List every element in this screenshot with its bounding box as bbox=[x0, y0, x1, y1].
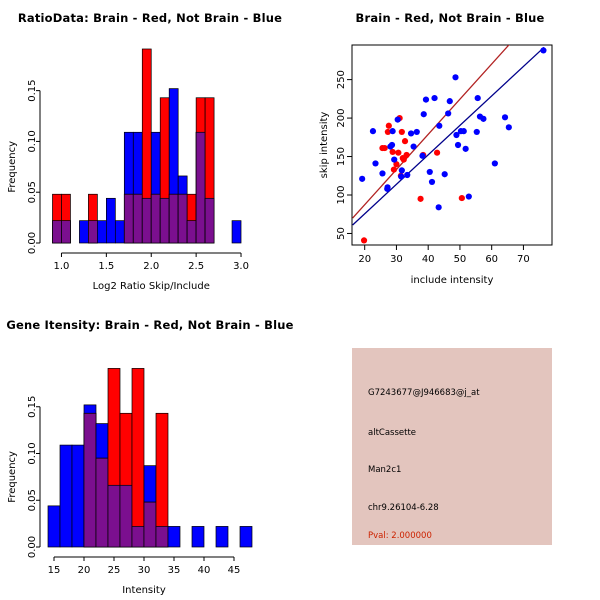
svg-text:30: 30 bbox=[138, 565, 151, 576]
svg-text:Frequency: Frequency bbox=[7, 451, 18, 503]
gene-intensity-svg: 0.000.050.100.15Frequency15202530354045I… bbox=[0, 300, 300, 600]
svg-text:35: 35 bbox=[168, 565, 181, 576]
svg-text:0.10: 0.10 bbox=[27, 442, 38, 464]
svg-text:0.05: 0.05 bbox=[27, 181, 38, 203]
svg-text:2.0: 2.0 bbox=[143, 261, 159, 272]
info-line-4: chr9.26104-6.28 bbox=[368, 503, 439, 513]
svg-text:45: 45 bbox=[228, 565, 241, 576]
svg-text:Intensity: Intensity bbox=[122, 585, 166, 596]
svg-text:25: 25 bbox=[108, 565, 121, 576]
svg-text:30: 30 bbox=[390, 254, 403, 265]
gene-intensity-panel: Gene Itensity: Brain - Red, Not Brain - … bbox=[0, 300, 300, 600]
svg-text:40: 40 bbox=[198, 565, 211, 576]
svg-text:0.05: 0.05 bbox=[27, 489, 38, 511]
svg-text:70: 70 bbox=[517, 254, 530, 265]
intensity-scatter-panel: Brain - Red, Not Brain - Blue 5010015020… bbox=[300, 0, 600, 300]
svg-text:150: 150 bbox=[336, 147, 347, 166]
svg-text:1.0: 1.0 bbox=[54, 261, 70, 272]
svg-text:250: 250 bbox=[336, 70, 347, 89]
gene-info-panel: G7243677@J946683@j_ataltCassetteMan2c1ch… bbox=[352, 348, 552, 545]
svg-text:50: 50 bbox=[454, 254, 467, 265]
ratio-histogram-svg: 0.000.050.100.15Frequency1.01.52.02.53.0… bbox=[0, 0, 300, 300]
svg-text:200: 200 bbox=[336, 109, 347, 128]
svg-text:Frequency: Frequency bbox=[7, 141, 18, 193]
svg-text:20: 20 bbox=[358, 254, 371, 265]
svg-text:20: 20 bbox=[78, 565, 91, 576]
svg-text:0.15: 0.15 bbox=[27, 396, 38, 418]
svg-text:60: 60 bbox=[485, 254, 498, 265]
info-line-1: G7243677@J946683@j_at bbox=[368, 388, 480, 398]
svg-text:15: 15 bbox=[48, 565, 61, 576]
info-line-2: altCassette bbox=[368, 428, 416, 438]
svg-text:3.0: 3.0 bbox=[233, 261, 249, 272]
ratio-histogram-panel: RatioData: Brain - Red, Not Brain - Blue… bbox=[0, 0, 300, 300]
svg-text:100: 100 bbox=[336, 185, 347, 204]
svg-text:skip intensity: skip intensity bbox=[319, 112, 330, 179]
svg-text:0.00: 0.00 bbox=[27, 536, 38, 558]
svg-text:0.10: 0.10 bbox=[27, 130, 38, 152]
intensity-scatter-svg: 50100150200250skip intensity203040506070… bbox=[300, 0, 600, 300]
svg-text:0.00: 0.00 bbox=[27, 232, 38, 254]
info-line-5: Pval: 2.000000 bbox=[368, 531, 432, 541]
svg-text:40: 40 bbox=[422, 254, 435, 265]
info-line-3: Man2c1 bbox=[368, 465, 401, 475]
svg-text:0.15: 0.15 bbox=[27, 79, 38, 101]
svg-text:include intensity: include intensity bbox=[411, 275, 494, 286]
svg-text:1.5: 1.5 bbox=[98, 261, 114, 272]
svg-text:2.5: 2.5 bbox=[188, 261, 204, 272]
svg-text:Log2 Ratio Skip/Include: Log2 Ratio Skip/Include bbox=[93, 281, 210, 292]
svg-text:50: 50 bbox=[336, 227, 347, 240]
